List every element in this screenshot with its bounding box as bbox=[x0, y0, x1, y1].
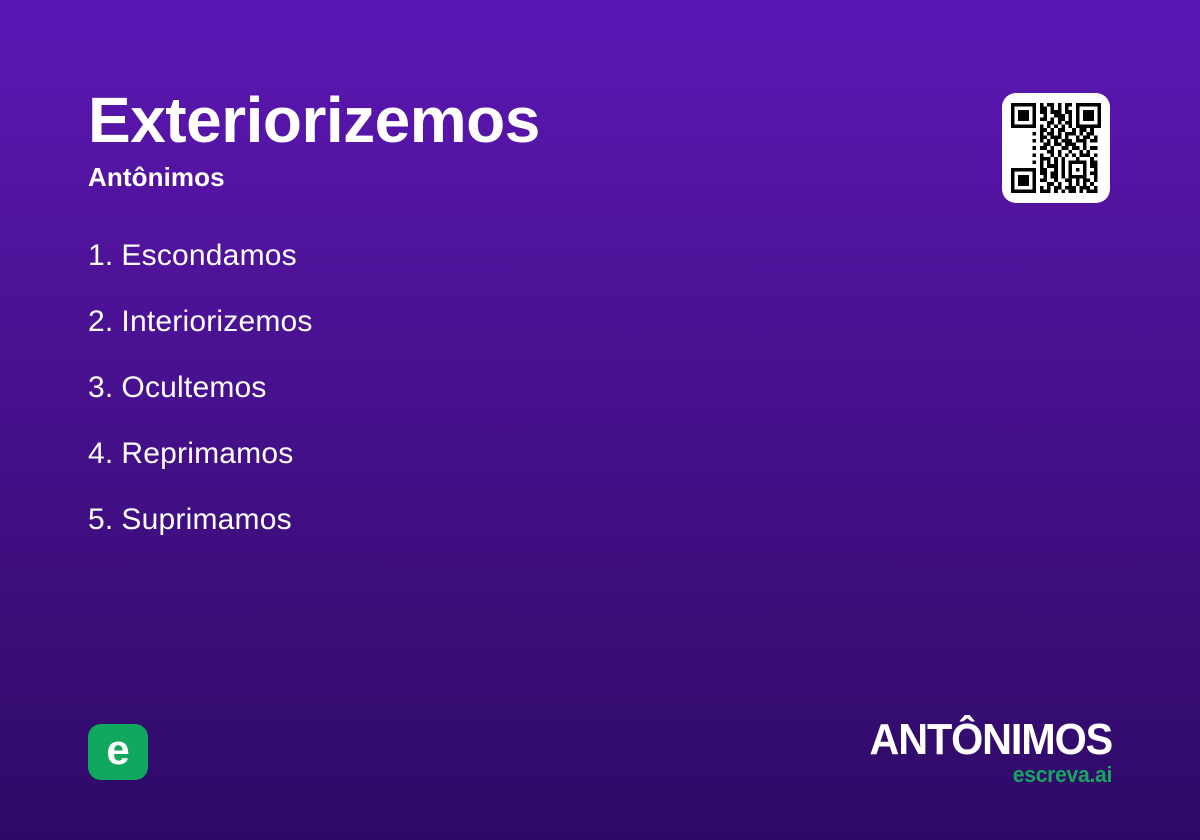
list-item-index: 1. bbox=[88, 239, 113, 272]
list-item: 4.Reprimamos bbox=[88, 434, 313, 474]
antonyms-list: 1.Escondamos 2.Interiorizemos 3.Ocultemo… bbox=[88, 236, 313, 540]
qr-code-icon[interactable] bbox=[1002, 93, 1110, 203]
list-item-index: 2. bbox=[88, 305, 113, 338]
page-title: Exteriorizemos bbox=[88, 86, 1112, 154]
list-item-label: Escondamos bbox=[121, 239, 296, 272]
card-header: Exteriorizemos Antônimos bbox=[88, 86, 1112, 192]
list-item-index: 5. bbox=[88, 503, 113, 536]
list-item-index: 4. bbox=[88, 437, 113, 470]
wordmark-title: ANTÔNIMOS bbox=[869, 718, 1112, 762]
list-item-label: Reprimamos bbox=[121, 437, 293, 470]
brand-wordmark: ANTÔNIMOS escreva.ai bbox=[854, 718, 1112, 786]
list-item-label: Interiorizemos bbox=[121, 305, 312, 338]
list-item: 2.Interiorizemos bbox=[88, 302, 313, 342]
list-item: 1.Escondamos bbox=[88, 236, 313, 276]
wordmark-domain: escreva.ai bbox=[864, 764, 1112, 786]
list-item: 5.Suprimamos bbox=[88, 500, 313, 540]
brand-badge-letter: e bbox=[106, 729, 129, 771]
page-subtitle: Antônimos bbox=[88, 162, 1112, 192]
list-item: 3.Ocultemos bbox=[88, 368, 313, 408]
antonyms-card: Exteriorizemos Antônimos bbox=[0, 0, 1200, 840]
list-item-index: 3. bbox=[88, 371, 113, 404]
list-item-label: Ocultemos bbox=[121, 371, 266, 404]
escreva-logo-icon: e bbox=[88, 724, 148, 780]
list-item-label: Suprimamos bbox=[121, 503, 291, 536]
